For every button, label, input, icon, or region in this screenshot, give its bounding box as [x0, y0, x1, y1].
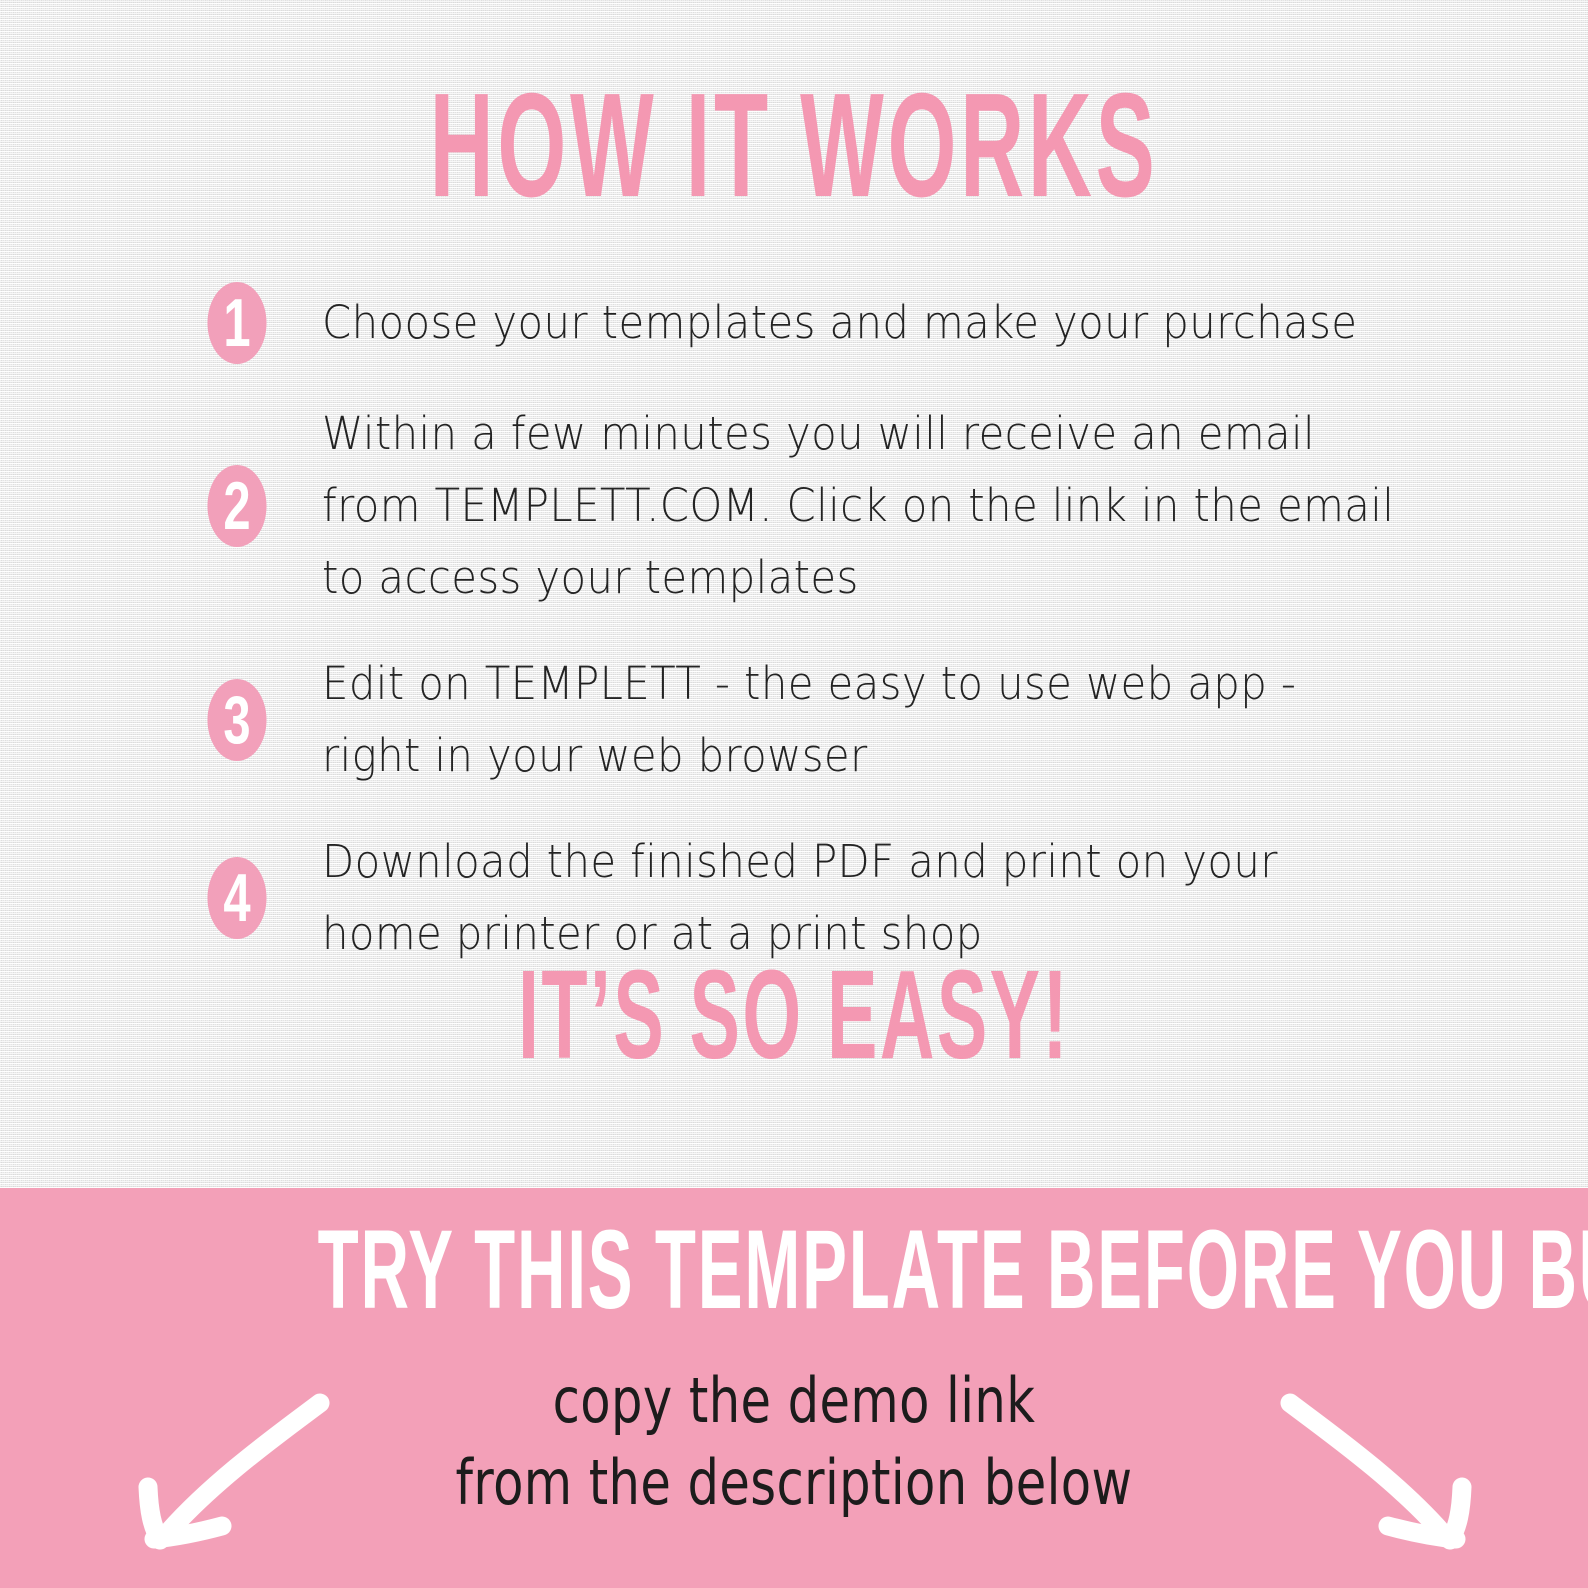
step-number-badge-wrap: 2 — [196, 465, 278, 547]
cta-banner-title: TRY THIS TEMPLATE BEFORE YOU BUY! — [318, 1214, 1271, 1326]
cta-banner-subtitle: copy the demo link from the description … — [159, 1360, 1429, 1524]
step-description: Within a few minutes you will receive an… — [322, 398, 1395, 614]
step-number-badge: 4 — [207, 857, 266, 939]
step-description: Edit on TEMPLETT - the easy to use web a… — [322, 648, 1395, 792]
step-number-badge-wrap: 3 — [196, 679, 278, 761]
step-number-badge-wrap: 4 — [196, 857, 278, 939]
step-number-badge-wrap: 1 — [196, 282, 278, 364]
page-title: HOW IT WORKS — [318, 72, 1271, 220]
list-item: 1 Choose your templates and make your pu… — [196, 282, 1476, 364]
step-number-badge: 3 — [207, 679, 266, 761]
steps-list: 1 Choose your templates and make your pu… — [196, 282, 1476, 1004]
list-item: 3 Edit on TEMPLETT - the easy to use web… — [196, 648, 1476, 792]
cta-banner: TRY THIS TEMPLATE BEFORE YOU BUY! copy t… — [0, 1188, 1588, 1588]
list-item: 2 Within a few minutes you will receive … — [196, 398, 1476, 614]
how-it-works-poster: HOW IT WORKS 1 Choose your templates and… — [0, 0, 1588, 1588]
tagline-heading: IT’S SO EASY! — [318, 952, 1271, 1078]
step-number-badge: 2 — [207, 465, 266, 547]
step-number-badge: 1 — [207, 282, 266, 364]
step-description: Choose your templates and make your purc… — [322, 287, 1395, 359]
